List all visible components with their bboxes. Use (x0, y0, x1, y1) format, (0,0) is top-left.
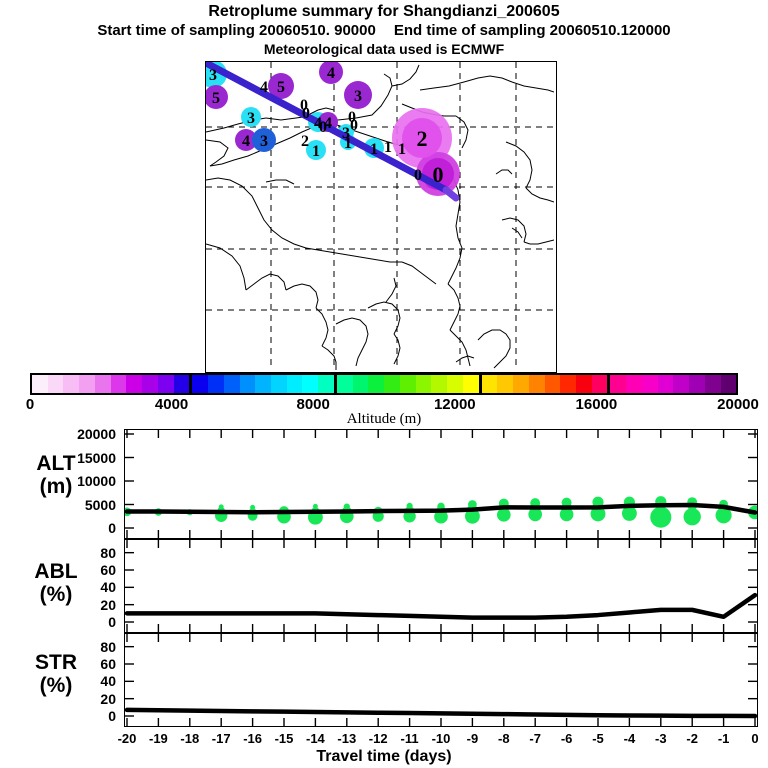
colorbar-segment (400, 375, 416, 393)
svg-text:5: 5 (277, 79, 285, 96)
svg-text:0: 0 (319, 119, 327, 136)
y-tick-label: 15000 (48, 450, 116, 466)
svg-text:3: 3 (354, 88, 362, 105)
x-tick-label: -3 (655, 731, 667, 746)
x-tick-label: -20 (118, 731, 137, 746)
svg-text:1: 1 (384, 139, 392, 156)
y-tick-label: 20 (62, 691, 116, 707)
map-canvas: 3 5 4 3 5 4 3 4 3 2 1 4 4 3 1 1 1 1 2 0 … (206, 62, 554, 370)
x-tick-label: -1 (718, 731, 730, 746)
colorbar-segment (576, 375, 592, 393)
x-tick-label: 0 (751, 731, 758, 746)
colorbar-segment (142, 375, 158, 393)
y-tick-label: 5000 (48, 497, 116, 513)
colorbar-segment (610, 375, 626, 393)
svg-text:1: 1 (370, 141, 378, 158)
colorbar-segment (721, 375, 737, 393)
svg-text:4: 4 (327, 65, 335, 82)
colorbar-segment (224, 375, 240, 393)
x-tick-label: -5 (592, 731, 604, 746)
svg-text:4: 4 (260, 79, 268, 96)
x-tick-label: -6 (561, 731, 573, 746)
title-block: Retroplume summary for Shangdianzi_20060… (0, 2, 768, 58)
y-tick-label: 40 (62, 673, 116, 689)
x-tick-label: -15 (275, 731, 294, 746)
x-tick-label: -12 (369, 731, 388, 746)
page-title: Retroplume summary for Shangdianzi_20060… (0, 2, 768, 21)
x-tick-label: -4 (624, 731, 636, 746)
colorbar-segment (384, 375, 400, 393)
colorbar-segment (368, 375, 384, 393)
colorbar-segment (560, 375, 576, 393)
svg-text:1: 1 (344, 135, 352, 152)
retroplume-map[interactable]: 3 5 4 3 5 4 3 4 3 2 1 4 4 3 1 1 1 1 2 0 … (205, 61, 557, 373)
svg-text:0: 0 (433, 162, 444, 187)
colorbar-segment (240, 375, 256, 393)
y-tick-label: 0 (62, 614, 116, 630)
y-tick-label: 60 (62, 656, 116, 672)
x-tick-label: -7 (529, 731, 541, 746)
y-tick-label: 0 (62, 708, 116, 724)
colorbar-segment (192, 375, 208, 393)
sampling-time-line: Start time of sampling 20060510. 90000En… (0, 21, 768, 40)
svg-text:0: 0 (414, 167, 422, 184)
svg-text:1: 1 (398, 141, 406, 158)
colorbar-segment (463, 375, 479, 393)
altitude-colorbar[interactable] (30, 373, 738, 395)
colorbar-segment (337, 375, 353, 393)
y-tick-label: 60 (62, 562, 116, 578)
colorbar-segment (529, 375, 545, 393)
colorbar-segment (79, 375, 95, 393)
colorbar-segment (447, 375, 463, 393)
colorbar-segment (689, 375, 705, 393)
str-plot (125, 634, 757, 726)
svg-text:0: 0 (302, 105, 310, 122)
x-tick-label: -10 (432, 731, 451, 746)
svg-text:3: 3 (260, 133, 268, 150)
colorbar-segment (673, 375, 689, 393)
y-tick-label: 10000 (48, 473, 116, 489)
svg-text:0: 0 (350, 117, 358, 134)
series-line (127, 595, 755, 618)
y-tick-label: 80 (62, 545, 116, 561)
colorbar-segment (174, 375, 190, 393)
colorbar-segment (48, 375, 64, 393)
x-axis-title: Travel time (days) (0, 748, 768, 766)
svg-text:2: 2 (301, 133, 309, 150)
colorbar-segment (126, 375, 142, 393)
colorbar-segment (32, 375, 48, 393)
colorbar-segment (302, 375, 318, 393)
y-tick-label: 0 (48, 520, 116, 536)
colorbar-segment (642, 375, 658, 393)
svg-text:2: 2 (417, 126, 428, 151)
start-time-label: Start time of sampling 20060510. 90000 (97, 22, 375, 39)
x-tick-label: -16 (243, 731, 262, 746)
colorbar-segment (287, 375, 303, 393)
y-tick-label: 40 (62, 579, 116, 595)
colorbar-segment (705, 375, 721, 393)
str-panel[interactable] (124, 633, 758, 727)
x-tick-label: -17 (212, 731, 231, 746)
x-tick-label: -9 (467, 731, 479, 746)
colorbar-segment (513, 375, 529, 393)
y-tick-label: 20000 (48, 426, 116, 442)
met-data-label: Meteorological data used is ECMWF (0, 40, 768, 58)
svg-text:5: 5 (212, 90, 220, 107)
colorbar-segment (111, 375, 127, 393)
svg-text:3: 3 (209, 67, 217, 84)
svg-text:4: 4 (242, 133, 250, 150)
colorbar-segment (416, 375, 432, 393)
colorbar-segment (482, 375, 498, 393)
x-tick-label: -11 (401, 731, 419, 746)
end-time-label: End time of sampling 20060510.120000 (394, 22, 671, 39)
colorbar-segment (431, 375, 447, 393)
colorbar-segment (271, 375, 287, 393)
colorbar-segment (255, 375, 271, 393)
x-tick-label: -14 (306, 731, 325, 746)
y-tick-label: 80 (62, 639, 116, 655)
colorbar-segment (95, 375, 111, 393)
x-tick-label: -13 (337, 731, 356, 746)
svg-text:3: 3 (247, 110, 255, 127)
series-line (127, 710, 755, 716)
colorbar-segment (318, 375, 334, 393)
abl-plot (125, 540, 757, 632)
x-tick-label: -2 (686, 731, 698, 746)
colorbar-segment (63, 375, 79, 393)
colorbar-segment (658, 375, 674, 393)
colorbar-segment (626, 375, 642, 393)
colorbar-segment (353, 375, 369, 393)
x-tick-label: -8 (498, 731, 510, 746)
map-gridlines (206, 62, 554, 370)
abl-panel[interactable] (124, 539, 758, 633)
colorbar-segment (208, 375, 224, 393)
x-tick-label: -18 (180, 731, 199, 746)
colorbar-segment (545, 375, 561, 393)
colorbar-segment (592, 375, 608, 393)
y-tick-label: 20 (62, 597, 116, 613)
x-tick-label: -19 (149, 731, 168, 746)
colorbar-segment (158, 375, 174, 393)
svg-text:1: 1 (312, 143, 320, 160)
colorbar-segment (497, 375, 513, 393)
alt-plot (125, 430, 757, 538)
alt-panel[interactable] (124, 429, 758, 539)
